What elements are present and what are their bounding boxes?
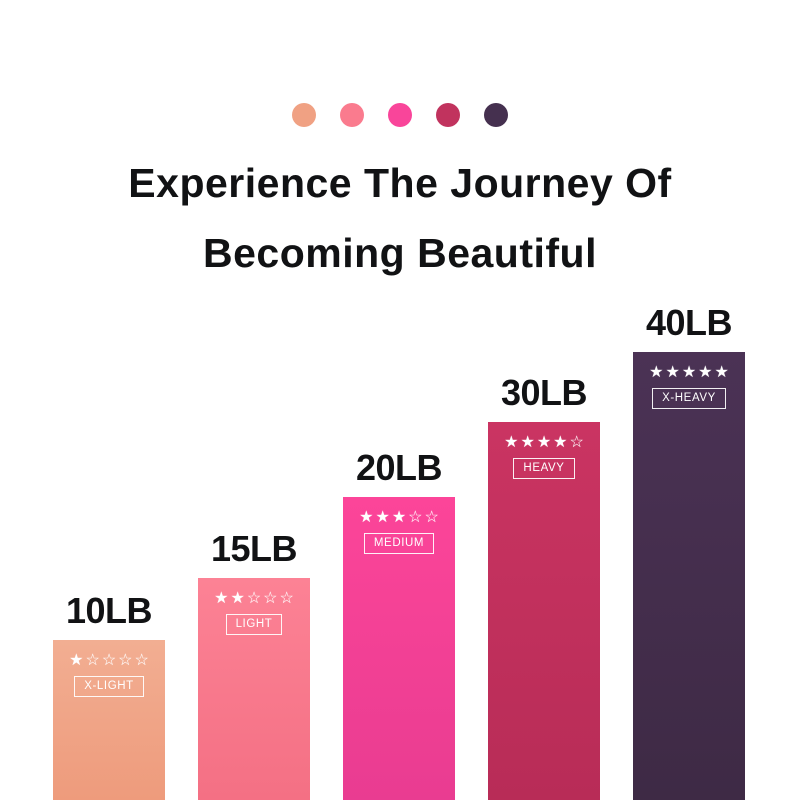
bar-value-label: 20LB <box>356 450 442 486</box>
bar-body[interactable]: ★★★☆☆MEDIUM <box>343 497 455 800</box>
promo-banner: Experience The Journey Of Becoming Beaut… <box>0 0 800 800</box>
bar-value-label: 30LB <box>501 375 587 411</box>
star-rating: ★★☆☆☆ <box>214 591 294 607</box>
resistance-bar-chart: 10LB★☆☆☆☆X-LIGHT15LB★★☆☆☆LIGHT20LB★★★☆☆M… <box>0 280 800 800</box>
bar-value-label: 10LB <box>66 593 152 629</box>
star-rating: ★★★★★ <box>649 365 729 381</box>
tier-badge: LIGHT <box>226 614 283 635</box>
star-filled-icon: ★ <box>537 435 551 451</box>
bar-column[interactable]: 40LB★★★★★X-HEAVY <box>633 305 745 800</box>
bar-body[interactable]: ★☆☆☆☆X-LIGHT <box>53 640 165 800</box>
star-filled-icon: ★ <box>715 365 729 381</box>
tier-badge: MEDIUM <box>364 533 434 554</box>
bar-value-label: 40LB <box>646 305 732 341</box>
tier-badge: X-LIGHT <box>74 676 144 697</box>
star-filled-icon: ★ <box>682 365 696 381</box>
tier-badge: HEAVY <box>513 458 574 479</box>
star-filled-icon: ★ <box>375 510 389 526</box>
tier-badge: X-HEAVY <box>652 388 726 409</box>
star-filled-icon: ★ <box>665 365 679 381</box>
star-filled-icon: ★ <box>520 435 534 451</box>
bar-body[interactable]: ★★★★☆HEAVY <box>488 422 600 800</box>
star-filled-icon: ★ <box>359 510 373 526</box>
star-empty-icon: ☆ <box>280 591 294 607</box>
dot-x-light <box>292 103 316 127</box>
star-rating: ★★★☆☆ <box>359 510 439 526</box>
star-rating: ★★★★☆ <box>504 435 584 451</box>
page-title: Experience The Journey Of Becoming Beaut… <box>0 148 800 288</box>
star-filled-icon: ★ <box>392 510 406 526</box>
star-filled-icon: ★ <box>214 591 228 607</box>
star-empty-icon: ☆ <box>85 653 99 669</box>
dot-heavy <box>436 103 460 127</box>
star-rating: ★☆☆☆☆ <box>69 653 149 669</box>
bar-value-label: 15LB <box>211 531 297 567</box>
bar-column[interactable]: 20LB★★★☆☆MEDIUM <box>343 450 455 800</box>
page-title-line-1: Experience The Journey Of <box>0 148 800 218</box>
star-filled-icon: ★ <box>504 435 518 451</box>
bar-body[interactable]: ★★☆☆☆LIGHT <box>198 578 310 800</box>
star-filled-icon: ★ <box>649 365 663 381</box>
dot-light <box>340 103 364 127</box>
star-filled-icon: ★ <box>553 435 567 451</box>
dot-x-heavy <box>484 103 508 127</box>
star-filled-icon: ★ <box>698 365 712 381</box>
star-empty-icon: ☆ <box>425 510 439 526</box>
bar-body[interactable]: ★★★★★X-HEAVY <box>633 352 745 800</box>
star-filled-icon: ★ <box>69 653 83 669</box>
star-empty-icon: ☆ <box>135 653 149 669</box>
bar-column[interactable]: 15LB★★☆☆☆LIGHT <box>198 531 310 800</box>
star-empty-icon: ☆ <box>102 653 116 669</box>
bar-column[interactable]: 10LB★☆☆☆☆X-LIGHT <box>53 593 165 800</box>
star-empty-icon: ☆ <box>570 435 584 451</box>
page-title-line-2: Becoming Beautiful <box>0 218 800 288</box>
star-empty-icon: ☆ <box>263 591 277 607</box>
star-filled-icon: ★ <box>230 591 244 607</box>
bar-column[interactable]: 30LB★★★★☆HEAVY <box>488 375 600 800</box>
dot-medium <box>388 103 412 127</box>
star-empty-icon: ☆ <box>408 510 422 526</box>
color-swatch-row <box>0 103 800 127</box>
star-empty-icon: ☆ <box>118 653 132 669</box>
star-empty-icon: ☆ <box>247 591 261 607</box>
